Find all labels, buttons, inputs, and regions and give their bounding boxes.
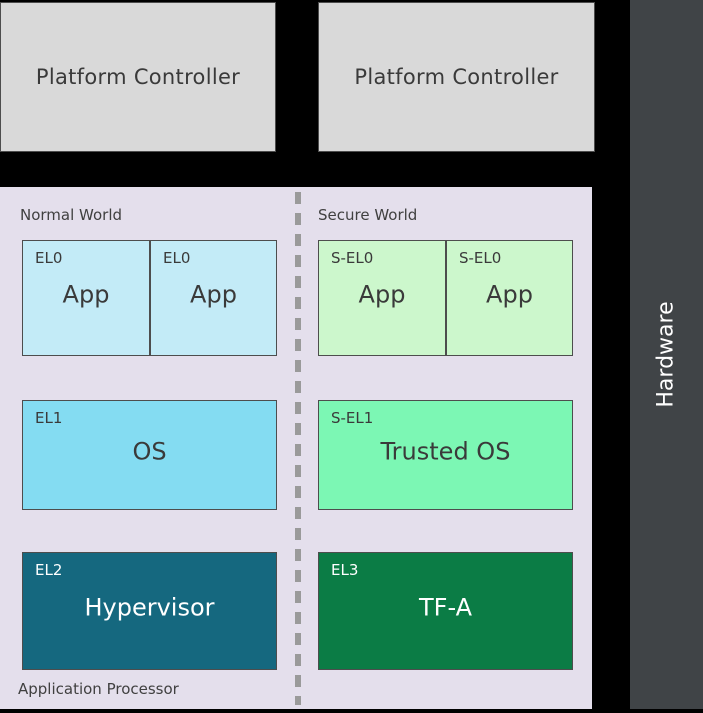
exception-level-tag: S-EL0 [331,249,373,267]
block-title: Hypervisor [23,594,276,622]
block-title: App [23,281,149,309]
block-title: App [447,281,572,309]
block-secure-el1-trusted-os: S-EL1 Trusted OS [318,400,573,510]
world-separator-dashed-line [295,192,301,705]
block-title: Trusted OS [319,438,572,466]
block-normal-el0-app-1: EL0 App [22,240,150,356]
platform-controller-box-right: Platform Controller [318,2,595,152]
exception-level-tag: EL0 [163,249,190,267]
exception-level-tag: S-EL0 [459,249,501,267]
block-title: TF-A [319,594,572,622]
hardware-label: Hardware [654,301,679,407]
block-normal-el1-os: EL1 OS [22,400,277,510]
exception-level-tag: EL2 [35,561,62,579]
block-normal-el0-app-2: EL0 App [150,240,277,356]
platform-controller-label: Platform Controller [36,65,240,89]
exception-level-tag: EL3 [331,561,358,579]
application-processor-caption: Application Processor [18,680,179,698]
platform-controller-label: Platform Controller [354,65,558,89]
block-secure-el0-app-2: S-EL0 App [446,240,573,356]
platform-controller-box-left: Platform Controller [0,2,276,152]
normal-world-label: Normal World [20,206,122,224]
exception-level-tag: EL1 [35,409,62,427]
exception-level-tag: EL0 [35,249,62,267]
block-secure-el0-app-1: S-EL0 App [318,240,446,356]
exception-level-tag: S-EL1 [331,409,373,427]
block-el3-tfa: EL3 TF-A [318,552,573,670]
block-title: App [319,281,445,309]
block-title: App [151,281,276,309]
hardware-panel: Hardware [630,0,703,709]
block-el2-hypervisor: EL2 Hypervisor [22,552,277,670]
block-title: OS [23,438,276,466]
secure-world-label: Secure World [318,206,417,224]
